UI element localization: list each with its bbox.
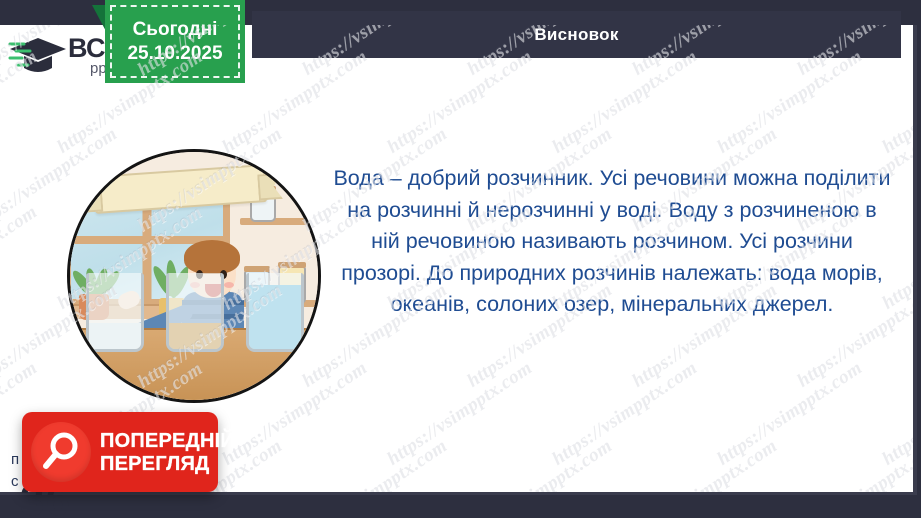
watermark-text: https://vsimpptx.com bbox=[383, 357, 536, 470]
boy-hair bbox=[184, 240, 240, 274]
slide-title-bar: Висновок bbox=[252, 11, 901, 58]
watermark-text: https://vsimpptx.com bbox=[548, 357, 701, 470]
beaker-1 bbox=[86, 273, 144, 352]
hidden-left-line-2: с bbox=[11, 471, 19, 493]
hidden-left-line-1: п bbox=[11, 449, 19, 471]
preview-badge-line-1: ПОПЕРЕДНІЙ bbox=[100, 431, 235, 451]
watermark-text: https://vsimpptx.com bbox=[878, 357, 917, 470]
illustration-circle bbox=[67, 149, 321, 403]
watermark-text: https://vsimpptx.com bbox=[713, 45, 866, 158]
watermark-text: https://vsimpptx.com bbox=[0, 201, 42, 314]
watermark-text: https://vsimpptx.com bbox=[713, 357, 866, 470]
watermark-text: https://vsimpptx.com bbox=[628, 435, 781, 495]
magnifier-icon bbox=[31, 422, 91, 482]
date-ribbon: Сьогодні 25.10.2025 bbox=[105, 0, 245, 83]
preview-badge-line-2: ПЕРЕГЛЯД bbox=[100, 454, 235, 474]
boy-cheek-right bbox=[224, 282, 234, 288]
slide-frame: Вода – добрий розчинник. Усі речовини мо… bbox=[0, 0, 921, 518]
slide-title: Висновок bbox=[534, 25, 618, 45]
beaker-2 bbox=[166, 273, 224, 352]
watermark-text: https://vsimpptx.com bbox=[878, 45, 917, 158]
ribbon-label: Сьогодні bbox=[133, 20, 218, 40]
conclusion-paragraph: Вода – добрий розчинник. Усі речовини мо… bbox=[332, 163, 892, 321]
watermark-text: https://vsimpptx.com bbox=[383, 45, 536, 158]
preview-badge[interactable]: ПОПЕРЕДНІЙ ПЕРЕГЛЯД bbox=[22, 412, 218, 492]
watermark-text: https://vsimpptx.com bbox=[793, 435, 917, 495]
ribbon-date: 25.10.2025 bbox=[127, 44, 222, 64]
watermark-text: https://vsimpptx.com bbox=[298, 435, 451, 495]
graduation-cap-icon bbox=[8, 30, 70, 82]
watermark-text: https://vsimpptx.com bbox=[548, 45, 701, 158]
hidden-left-text: п с bbox=[11, 449, 19, 493]
beaker-3 bbox=[246, 273, 304, 352]
watermark-text: https://vsimpptx.com bbox=[463, 435, 616, 495]
